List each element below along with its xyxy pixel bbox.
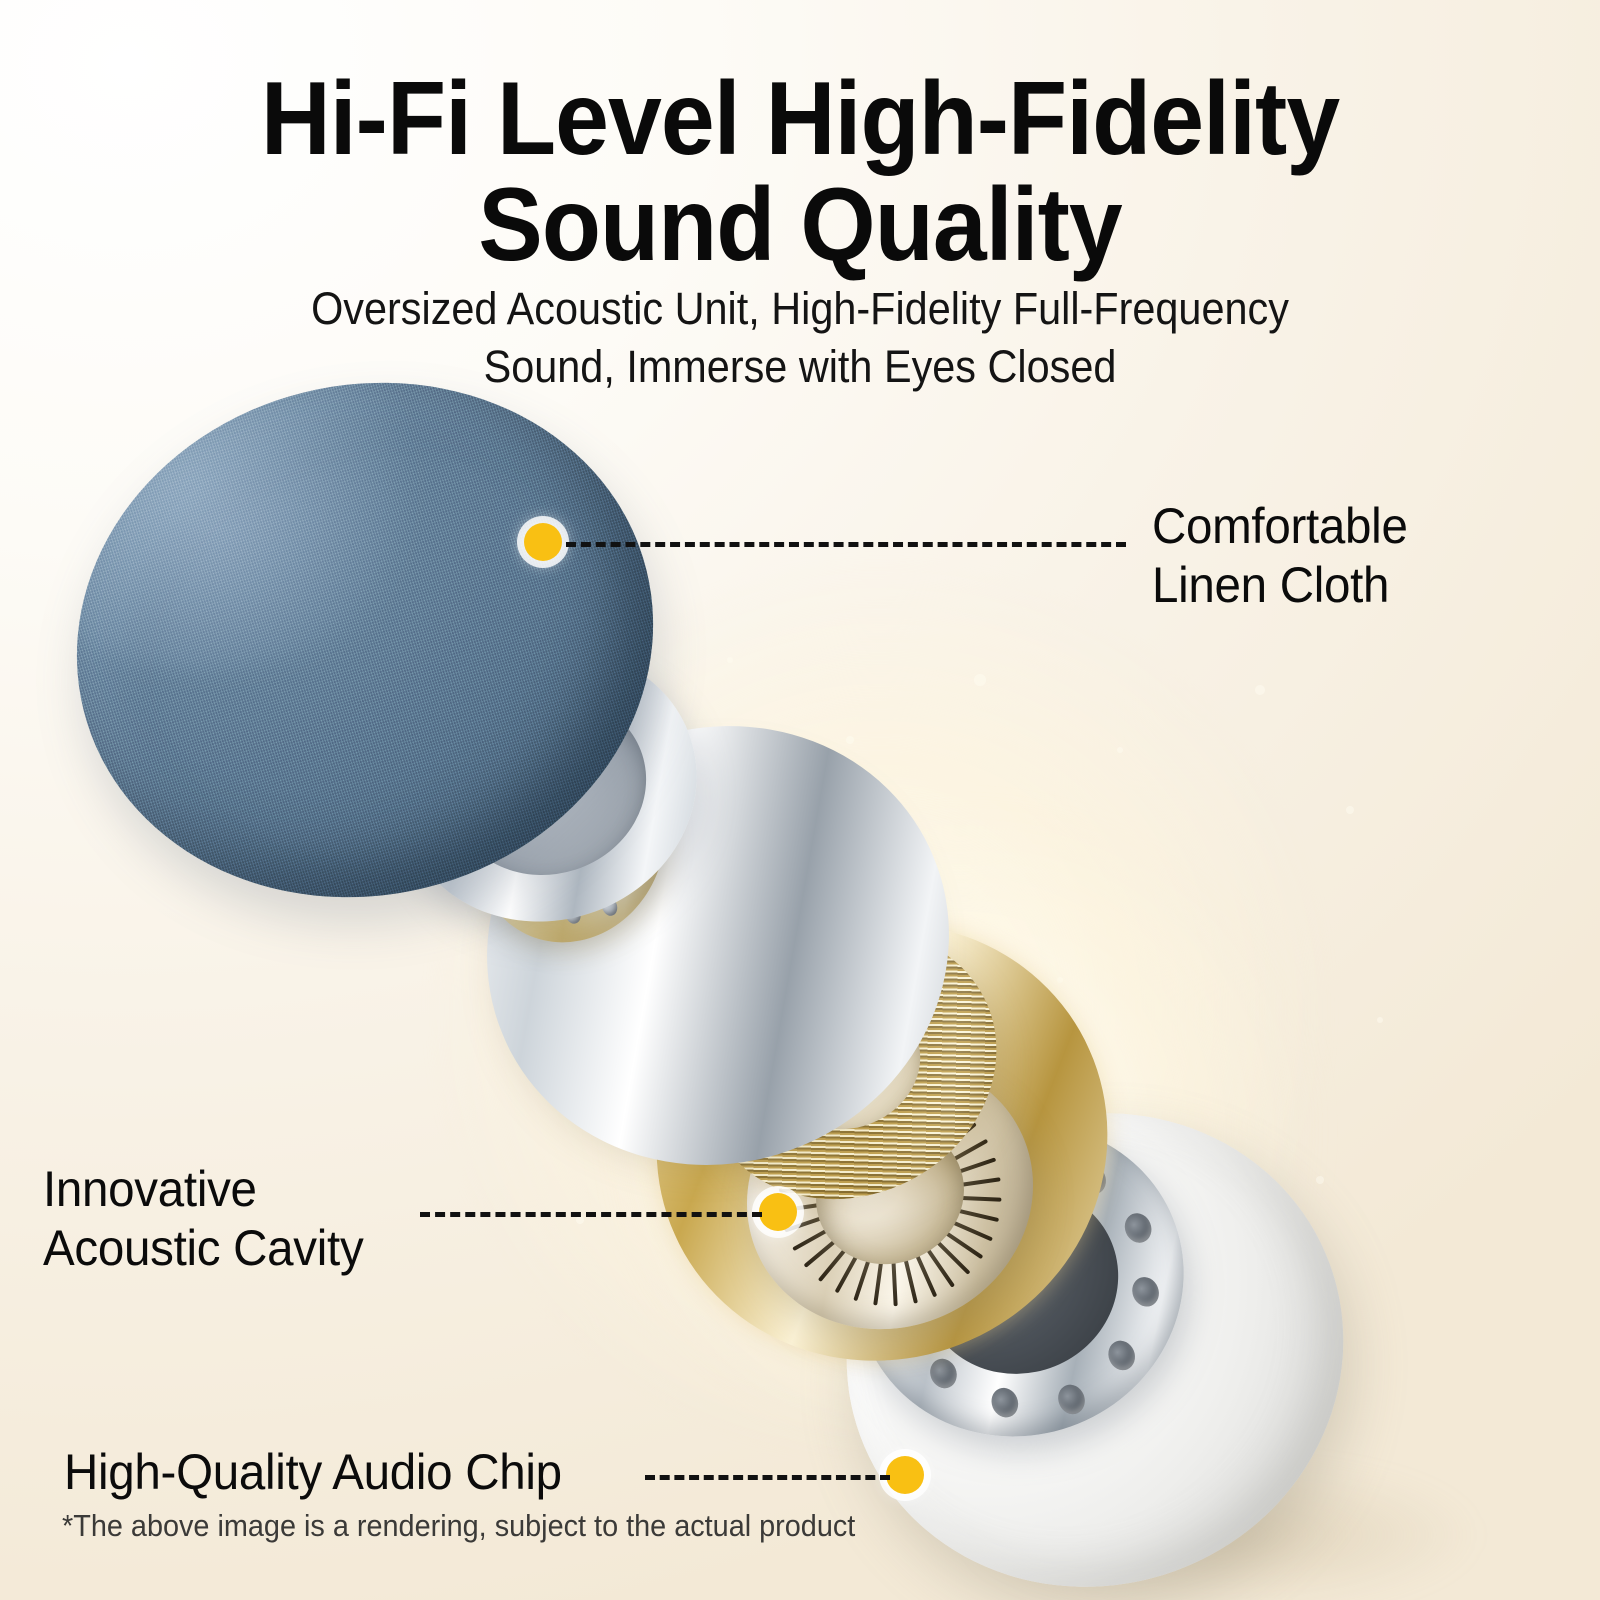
page-title: Hi-Fi Level High-Fidelity Sound Quality bbox=[56, 66, 1544, 278]
page-subtitle: Oversized Acoustic Unit, High-Fidelity F… bbox=[64, 280, 1536, 395]
rendering-disclaimer: *The above image is a rendering, subject… bbox=[62, 1508, 855, 1544]
leader-line-audio-chip bbox=[645, 1475, 890, 1480]
callout-label-acoustic-cavity: Innovative Acoustic Cavity bbox=[43, 1160, 363, 1278]
callout-dot-linen-cloth[interactable] bbox=[524, 523, 562, 561]
callout-label-audio-chip: High-Quality Audio Chip bbox=[64, 1443, 562, 1502]
callout-dot-acoustic-cavity[interactable] bbox=[759, 1193, 797, 1231]
callout-dot-audio-chip[interactable] bbox=[886, 1456, 924, 1494]
callout-label-linen-cloth: Comfortable Linen Cloth bbox=[1152, 497, 1408, 615]
product-infographic: Hi-Fi Level High-Fidelity Sound Quality … bbox=[0, 0, 1600, 1600]
leader-line-linen-cloth bbox=[566, 542, 1126, 547]
